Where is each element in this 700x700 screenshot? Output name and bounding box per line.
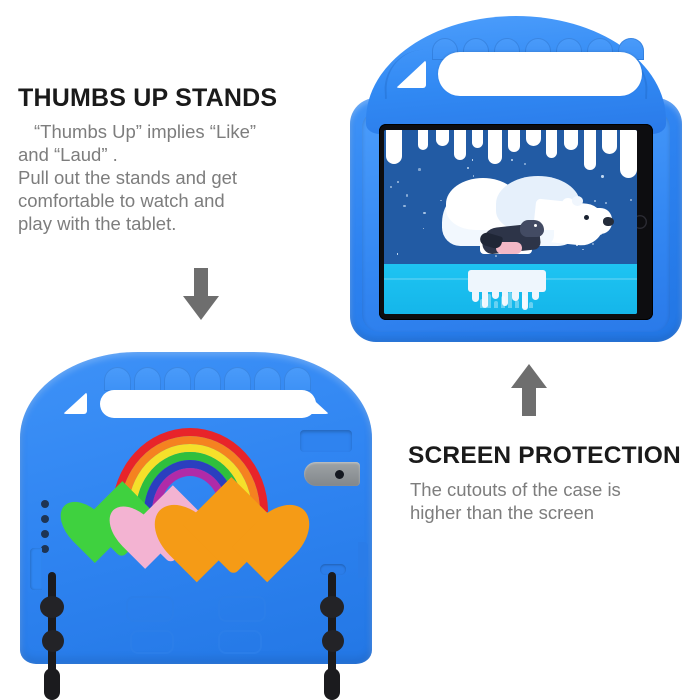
icicle [418,130,428,150]
icicle [602,130,617,154]
star [594,200,596,202]
up-arrow-icon [508,364,550,416]
icicle [508,130,520,152]
reflection-streak [494,301,498,308]
star [605,202,607,204]
thumbs-up-body: “Thumbs Up” implies “Like” and “Laud” . … [18,120,348,235]
tablet-case-front-view [342,14,690,346]
icicle [546,130,557,158]
star [495,255,497,257]
icicle [488,130,502,164]
kickstand-leg-left[interactable] [36,572,68,700]
top-port-cutout [300,430,352,452]
handle-cutout-back [100,390,316,418]
down-arrow-icon [180,268,222,320]
speaker-hole [41,515,49,523]
star [592,243,594,245]
star [440,200,442,202]
kickstand-leg-right[interactable] [316,572,348,700]
reflection-streak [480,299,484,308]
polar-bear-nose [603,217,614,226]
ice-drip [492,290,499,299]
reflection-streak [508,292,512,308]
grip-bump [104,367,131,391]
icicle [526,130,541,146]
grip-bump [224,367,251,391]
star [406,194,408,196]
handle-wing-left-back [63,392,87,414]
stand-slot-right-lower [218,630,262,654]
polar-bear-eye [584,215,589,220]
speaker-holes [41,500,51,554]
icicle [454,130,466,160]
speaker-hole [41,545,49,553]
reflection-streak [501,296,505,308]
thumbs-up-heading: THUMBS UP STANDS [18,84,277,113]
right-edge-cutout [358,542,368,578]
icicle [620,130,637,178]
handle-grip-bumps-back [104,367,314,391]
ice-drip [472,290,479,302]
seal-eye [534,224,537,227]
speaker-hole [41,500,49,508]
ice-drip [532,290,539,300]
grip-bump [194,367,221,391]
grip-bump [164,367,191,391]
icicle [584,130,596,170]
grip-bump [134,367,161,391]
screen-protection-body: The cutouts of the case is higher than t… [410,478,695,524]
camera-lens-icon [335,470,344,479]
icicle [564,130,578,150]
thumbs-up-body-line-2: and “Laud” . [18,143,348,166]
camera-cover-slider[interactable] [304,462,360,486]
grip-bump [254,367,281,391]
star [630,199,632,201]
tablet-screen[interactable] [384,130,637,314]
tablet-bezel [379,124,653,320]
star [423,212,425,214]
heart-shape [183,477,281,575]
screen-protection-body-line-2: higher than the screen [410,501,695,524]
thumbs-up-body-line-3: Pull out the stands and get [18,166,348,189]
icicle [436,130,449,146]
reflection-streak [515,300,519,308]
stand-slot-left-lower [130,630,174,654]
thumbs-up-body-line-4: comfortable to watch and [18,189,348,212]
polar-bear-ear-right [572,196,583,206]
ice-floe [468,270,546,292]
grip-bump [284,367,311,391]
thumbs-up-body-line-5: play with the tablet. [18,212,348,235]
case-handle [366,16,666,134]
heart-orange-graphic [182,470,282,566]
stand-slot-right-upper [218,596,266,622]
tablet-case-back-view [6,344,386,700]
infographic-canvas: THUMBS UP STANDS “Thumbs Up” implies “Li… [0,0,700,700]
seal-head [520,220,544,237]
icicle [472,130,483,148]
reflection-streak [487,294,491,308]
speaker-hole [41,530,49,538]
reflection-streak [522,295,526,308]
icicle [386,130,402,164]
thumbs-up-body-line-1: “Thumbs Up” implies “Like” [18,120,348,143]
star [403,205,405,207]
reflection-streak [529,302,533,308]
stand-slot-left-upper [126,596,174,622]
screen-protection-body-line-1: The cutouts of the case is [410,478,695,501]
screen-protection-heading: SCREEN PROTECTION [408,442,681,470]
